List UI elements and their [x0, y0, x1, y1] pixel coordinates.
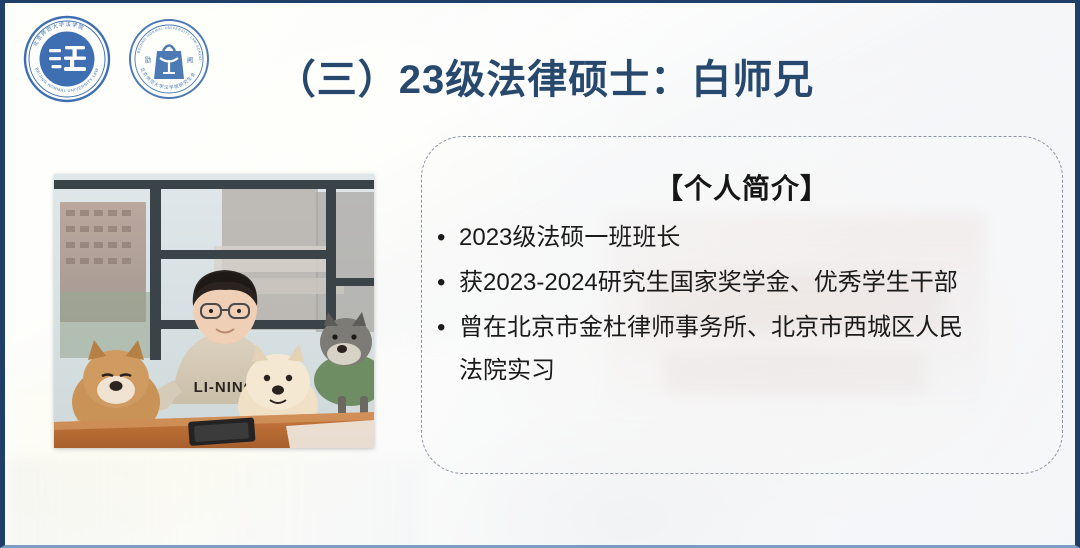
- bullet-marker-icon: •: [437, 267, 459, 299]
- list-item: • 曾在北京市金杜律师事务所、北京市西城区人民 法院实习: [437, 312, 1054, 387]
- list-item: • 获2023-2024研究生国家奖学金、优秀学生干部: [437, 267, 1054, 299]
- profile-bullet-list: • 2023级法硕一班班长 • 获2023-2024研究生国家奖学金、优秀学生干…: [437, 222, 1054, 401]
- profile-photo: LI-NING: [54, 174, 374, 448]
- list-item-text-line2: 法院实习: [459, 355, 1054, 387]
- list-item: • 2023级法硕一班班长: [437, 222, 1054, 254]
- list-item-text: 曾在北京市金杜律师事务所、北京市西城区人民 法院实习: [459, 312, 1054, 387]
- list-item-text: 2023级法硕一班班长: [459, 222, 1054, 254]
- profile-photo-image: LI-NING: [54, 174, 374, 448]
- slide-title: （三）23级法律硕士：白师兄: [5, 47, 1080, 105]
- list-item-text: 获2023-2024研究生国家奖学金、优秀学生干部: [459, 267, 1054, 299]
- profile-info-box: 【个人简介】 • 2023级法硕一班班长 • 获2023-2024研究生国家奖学…: [421, 136, 1063, 474]
- info-box-heading: 【个人简介】: [422, 167, 1062, 207]
- bullet-marker-icon: •: [437, 312, 459, 344]
- list-item-text-line1: 曾在北京市金杜律师事务所、北京市西城区人民: [459, 314, 963, 341]
- bullet-marker-icon: •: [437, 222, 459, 254]
- presentation-slide: 北京师范大学法学院 BEIJING NORMAL UNIVERSITY LAW …: [0, 0, 1080, 548]
